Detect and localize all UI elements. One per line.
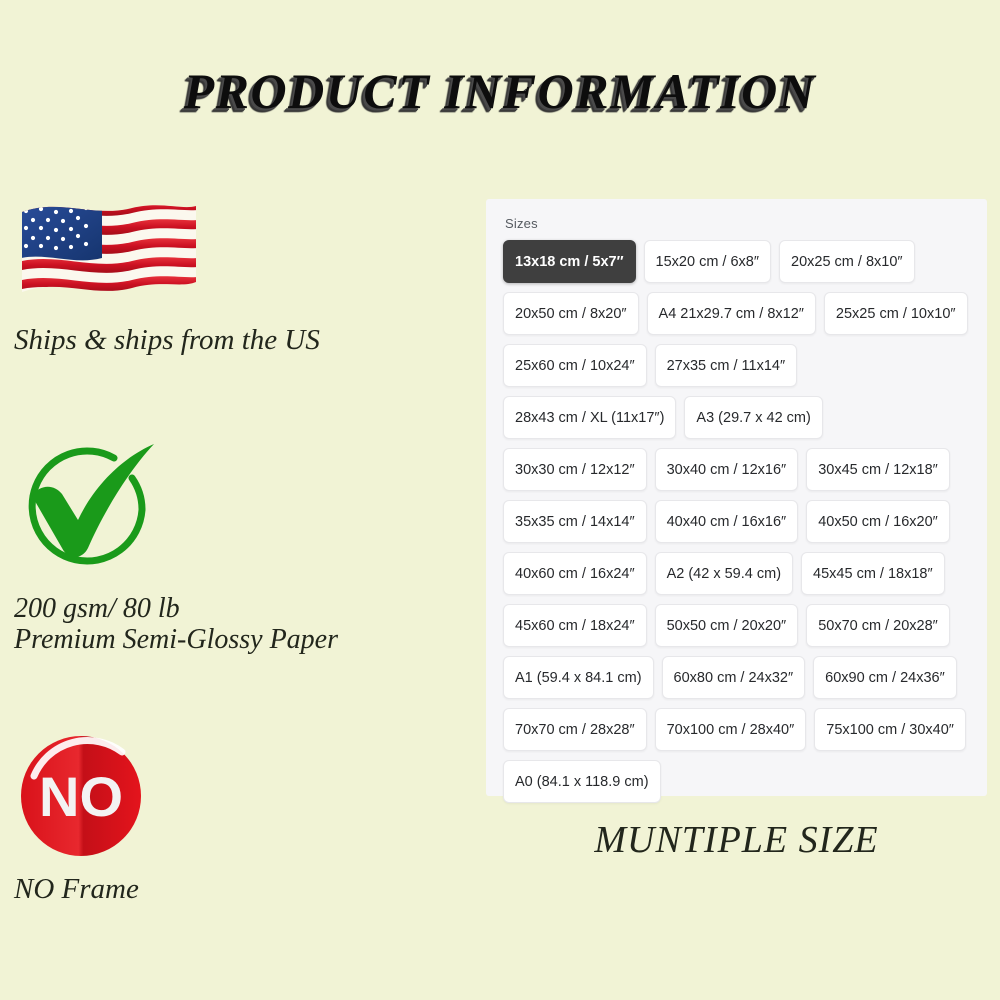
size-option-chip[interactable]: 25x25 cm / 10x10″ bbox=[824, 292, 968, 335]
feature-paper-caption: 200 gsm/ 80 lb Premium Semi-Glossy Paper bbox=[14, 593, 474, 656]
feature-paper-caption-line1: 200 gsm/ 80 lb bbox=[14, 593, 474, 624]
feature-shipping-caption: Ships & ships from the US bbox=[14, 324, 474, 356]
size-option-chip[interactable]: 20x50 cm / 8x20″ bbox=[503, 292, 639, 335]
feature-no-frame-caption: NO Frame bbox=[14, 873, 474, 905]
sizes-option-grid: 13x18 cm / 5x7″15x20 cm / 6x8″20x25 cm /… bbox=[503, 240, 971, 803]
sizes-panel: Sizes 13x18 cm / 5x7″15x20 cm / 6x8″20x2… bbox=[486, 199, 987, 796]
feature-paper: 200 gsm/ 80 lb Premium Semi-Glossy Paper bbox=[14, 438, 474, 656]
size-option-chip[interactable]: 30x30 cm / 12x12″ bbox=[503, 448, 647, 491]
green-check-icon bbox=[14, 438, 164, 583]
no-badge-icon: NO bbox=[14, 728, 149, 863]
no-badge-text: NO bbox=[39, 765, 123, 828]
size-option-chip[interactable]: 13x18 cm / 5x7″ bbox=[503, 240, 636, 283]
size-option-chip[interactable]: 40x40 cm / 16x16″ bbox=[655, 500, 799, 543]
size-option-chip[interactable]: 50x50 cm / 20x20″ bbox=[655, 604, 799, 647]
size-option-chip[interactable]: 28x43 cm / XL (11x17″) bbox=[503, 396, 676, 439]
feature-paper-caption-line2: Premium Semi-Glossy Paper bbox=[14, 624, 474, 655]
size-option-chip[interactable]: A0 (84.1 x 118.9 cm) bbox=[503, 760, 661, 803]
feature-shipping: Ships & ships from the US bbox=[14, 196, 474, 356]
multiple-size-caption: MUNTIPLE SIZE bbox=[486, 818, 987, 862]
size-option-chip[interactable]: 30x45 cm / 12x18″ bbox=[806, 448, 950, 491]
size-option-chip[interactable]: 40x60 cm / 16x24″ bbox=[503, 552, 647, 595]
size-option-chip[interactable]: 45x45 cm / 18x18″ bbox=[801, 552, 945, 595]
size-option-chip[interactable]: 50x70 cm / 20x28″ bbox=[806, 604, 950, 647]
feature-no-frame: NO NO Frame bbox=[14, 728, 474, 905]
size-option-chip[interactable]: 70x100 cm / 28x40″ bbox=[655, 708, 807, 751]
size-option-chip[interactable]: A2 (42 x 59.4 cm) bbox=[655, 552, 793, 595]
size-option-chip[interactable]: 35x35 cm / 14x14″ bbox=[503, 500, 647, 543]
size-option-chip[interactable]: 70x70 cm / 28x28″ bbox=[503, 708, 647, 751]
size-option-chip[interactable]: 30x40 cm / 12x16″ bbox=[655, 448, 799, 491]
size-option-chip[interactable]: 25x60 cm / 10x24″ bbox=[503, 344, 647, 387]
size-option-chip[interactable]: 15x20 cm / 6x8″ bbox=[644, 240, 771, 283]
size-option-chip[interactable]: 20x25 cm / 8x10″ bbox=[779, 240, 915, 283]
sizes-label: Sizes bbox=[505, 216, 987, 231]
size-option-chip[interactable]: 60x90 cm / 24x36″ bbox=[813, 656, 957, 699]
size-option-chip[interactable]: A4 21x29.7 cm / 8x12″ bbox=[647, 292, 816, 335]
size-option-chip[interactable]: 45x60 cm / 18x24″ bbox=[503, 604, 647, 647]
size-option-chip[interactable]: 27x35 cm / 11x14″ bbox=[655, 344, 798, 387]
size-option-chip[interactable]: 75x100 cm / 30x40″ bbox=[814, 708, 966, 751]
us-flag-icon bbox=[14, 196, 204, 316]
size-option-chip[interactable]: A3 (29.7 x 42 cm) bbox=[684, 396, 822, 439]
size-option-chip[interactable]: 40x50 cm / 16x20″ bbox=[806, 500, 950, 543]
size-option-chip[interactable]: A1 (59.4 x 84.1 cm) bbox=[503, 656, 654, 699]
size-option-chip[interactable]: 60x80 cm / 24x32″ bbox=[662, 656, 806, 699]
page-title: PRODUCT INFORMATION bbox=[0, 62, 1000, 120]
